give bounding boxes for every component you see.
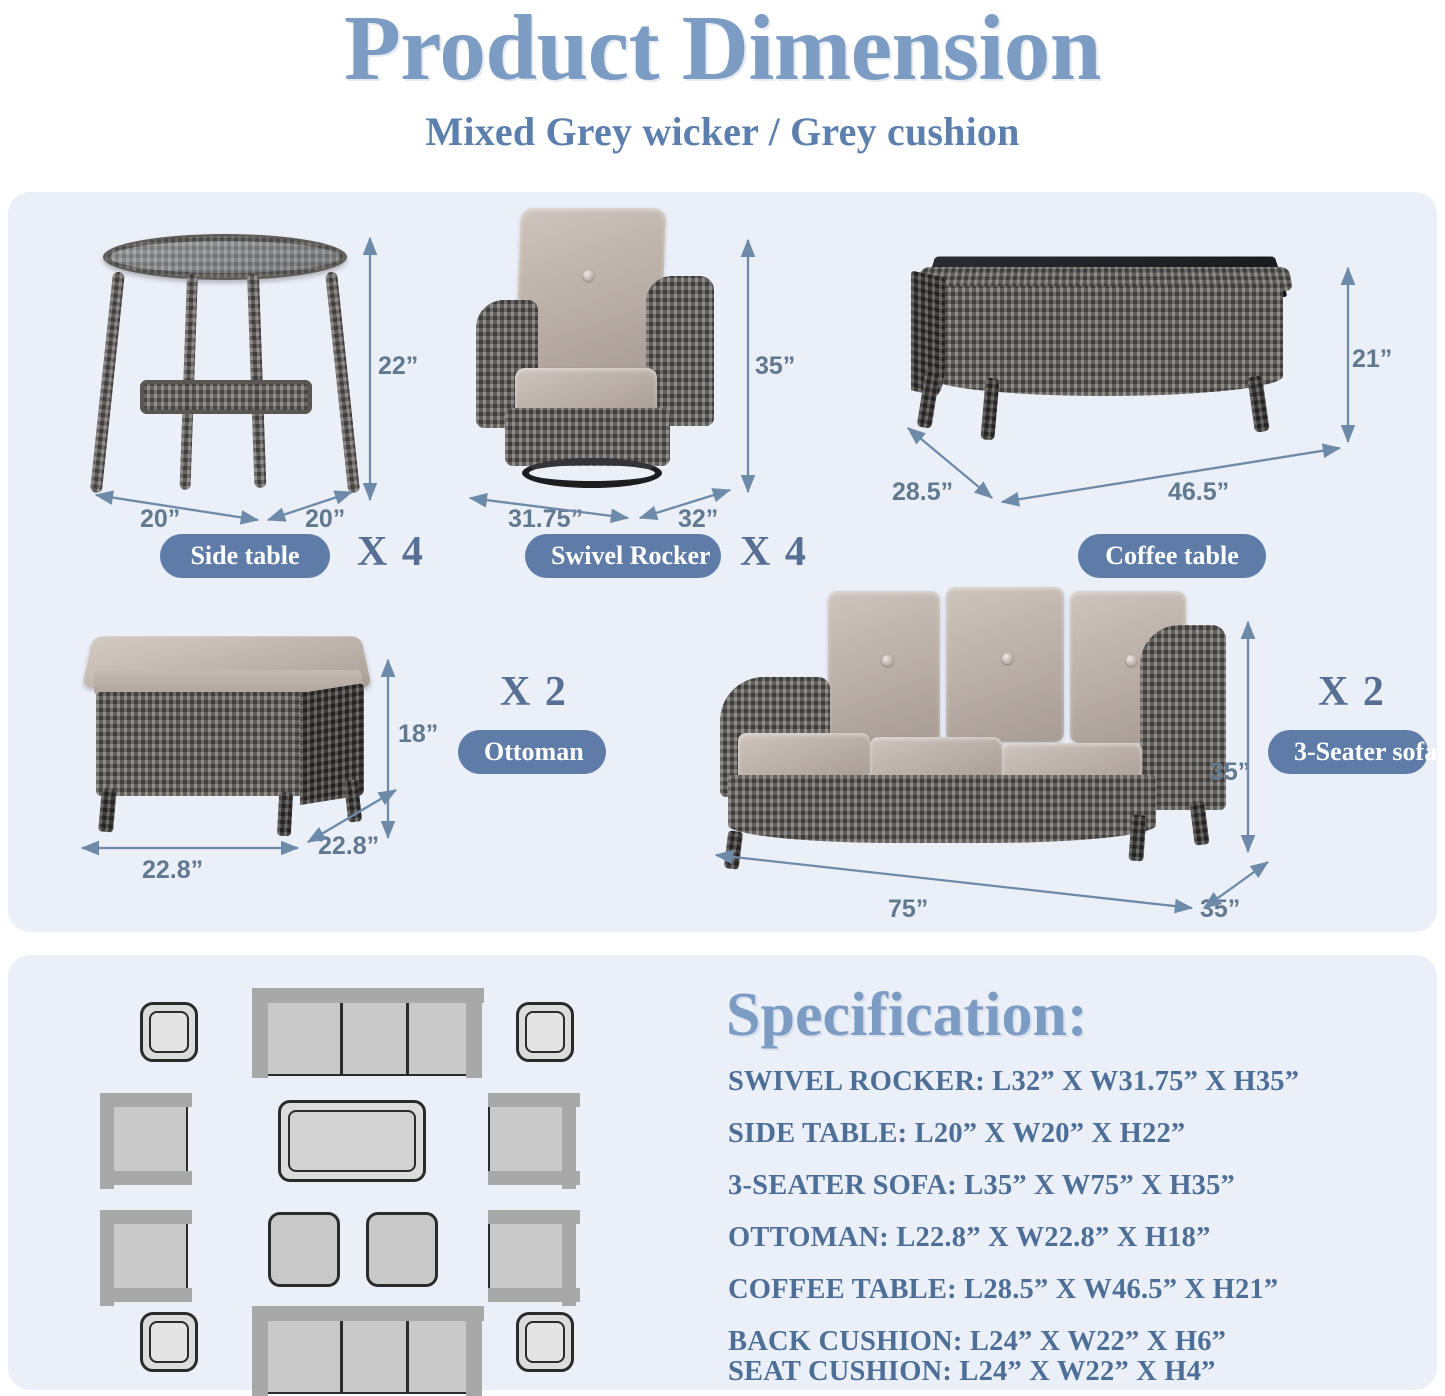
sofa-qty: X 2	[1318, 668, 1386, 716]
ottoman-dim-height: 18”	[398, 720, 438, 749]
page-subtitle: Mixed Grey wicker / Grey cushion	[0, 108, 1445, 155]
page-title: Product Dimension	[0, 4, 1445, 94]
sofa-dim-width: 75”	[888, 895, 928, 924]
spec-line-swivel-rocker: SWIVEL ROCKER: L32” X W31.75” X H35”	[728, 1066, 1299, 1098]
product-sofa-image	[710, 585, 1230, 875]
layout-coffee-table	[278, 1100, 426, 1182]
layout-ottoman	[268, 1212, 340, 1287]
sofa-dim-depth: 35”	[1200, 895, 1240, 924]
layout-side-table	[140, 1002, 198, 1062]
layout-ottoman	[366, 1212, 438, 1287]
layout-side-table	[516, 1002, 574, 1062]
spec-line-back-cushion: BACK CUSHION: L24” X W22” X H6”	[728, 1326, 1226, 1358]
side-table-dim-depth: 20”	[305, 505, 345, 534]
side-table-dim-width: 20”	[140, 505, 180, 534]
sofa-label: 3-Seater sofa	[1268, 730, 1428, 774]
ottoman-dim-depth: 22.8”	[318, 832, 379, 861]
layout-swivel-rocker	[100, 1210, 188, 1302]
spec-line-ottoman: OTTOMAN: L22.8” X W22.8” X H18”	[728, 1222, 1211, 1254]
spec-line-coffee-table: COFFEE TABLE: L28.5” X W46.5” X H21”	[728, 1274, 1278, 1306]
coffee-table-dim-height: 21”	[1352, 345, 1392, 374]
layout-swivel-rocker	[100, 1093, 188, 1185]
ottoman-qty: X 2	[500, 668, 568, 716]
side-table-dim-height: 22”	[378, 352, 418, 381]
spec-line-seat-cushion: SEAT CUSHION: L24” X W22” X H4”	[728, 1356, 1216, 1388]
side-table-label: Side table	[160, 534, 330, 578]
swivel-rocker-dim-depth: 32”	[678, 505, 718, 534]
layout-side-table	[140, 1312, 198, 1372]
layout-swivel-rocker	[488, 1093, 576, 1185]
layout-diagram	[118, 980, 698, 1375]
spec-line-sofa: 3-SEATER SOFA: L35” X W75” X H35”	[728, 1170, 1235, 1202]
product-swivel-rocker-image	[470, 208, 725, 498]
coffee-table-dim-depth: 28.5”	[892, 478, 953, 507]
product-coffee-table-image	[905, 250, 1305, 465]
sofa-dim-height: 35”	[1210, 758, 1250, 787]
spec-line-side-table: SIDE TABLE: L20” X W20” X H22”	[728, 1118, 1185, 1150]
layout-sofa	[252, 988, 482, 1076]
coffee-table-label: Coffee table	[1078, 534, 1266, 578]
swivel-rocker-label: Swivel Rocker	[525, 534, 721, 578]
swivel-rocker-qty: X 4	[740, 528, 808, 576]
specification-title: Specification:	[726, 980, 1088, 1051]
layout-sofa	[252, 1306, 482, 1394]
product-ottoman-image	[78, 630, 388, 845]
product-side-table-image	[95, 228, 355, 503]
layout-swivel-rocker	[488, 1210, 576, 1302]
coffee-table-dim-width: 46.5”	[1168, 478, 1229, 507]
swivel-rocker-dim-width: 31.75”	[508, 505, 583, 534]
ottoman-dim-width: 22.8”	[142, 856, 203, 885]
swivel-rocker-dim-height: 35”	[755, 352, 795, 381]
layout-side-table	[516, 1312, 574, 1372]
page-header: Product Dimension Mixed Grey wicker / Gr…	[0, 0, 1445, 155]
ottoman-label: Ottoman	[458, 730, 606, 774]
side-table-qty: X 4	[357, 528, 425, 576]
